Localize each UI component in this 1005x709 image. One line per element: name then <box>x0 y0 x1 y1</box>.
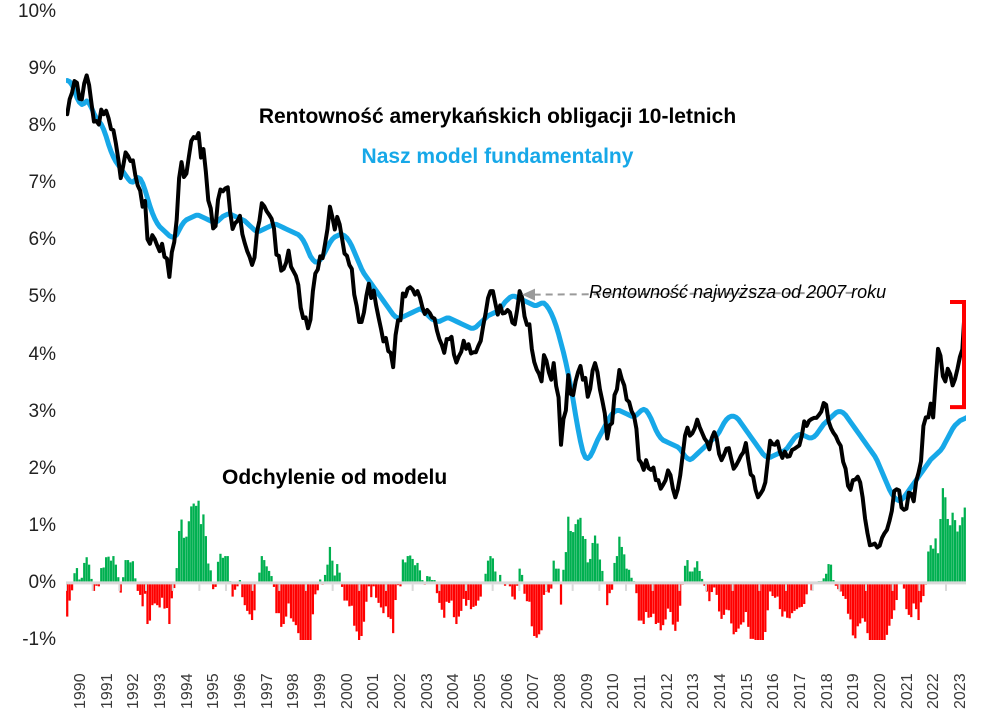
deviation-bar <box>280 583 282 627</box>
deviation-bar <box>339 573 341 583</box>
deviation-bar <box>664 583 666 620</box>
x-axis-tick: 2010 <box>605 673 623 709</box>
deviation-bar <box>329 547 331 583</box>
deviation-bar <box>326 565 328 583</box>
deviation-bar <box>643 583 645 624</box>
deviation-bar <box>635 583 637 593</box>
deviation-bar <box>441 583 443 610</box>
deviation-bar <box>842 583 844 596</box>
deviation-bar <box>881 583 883 640</box>
y-axis-tick: 0% <box>0 573 56 592</box>
deviation-bar <box>930 545 932 583</box>
deviation-bar <box>859 583 861 624</box>
deviation-bar <box>879 583 881 640</box>
x-axis-tick: 1992 <box>125 673 143 709</box>
deviation-bar <box>283 583 285 624</box>
deviation-bar <box>577 520 579 583</box>
deviation-bar <box>657 583 659 623</box>
deviation-bar <box>472 583 474 607</box>
deviation-bar <box>414 565 416 583</box>
deviation-bar <box>798 583 800 608</box>
chart-subtitle: Nasz model fundamentalny <box>0 145 1000 169</box>
deviation-bar <box>737 583 739 629</box>
y-axis-tick: 6% <box>0 230 56 249</box>
y-axis-tick: 2% <box>0 459 56 478</box>
x-axis-tick: 2009 <box>579 673 597 709</box>
deviation-bar <box>180 520 182 583</box>
deviation-bar <box>876 583 878 640</box>
deviation-bar <box>492 558 494 583</box>
deviation-bar <box>365 583 367 602</box>
deviation-bar <box>908 583 910 615</box>
deviation-bar <box>616 556 618 583</box>
deviation-bar <box>105 557 107 583</box>
deviation-bar <box>200 524 202 583</box>
deviation-bar <box>830 565 832 583</box>
deviation-bar <box>932 549 934 583</box>
deviation-bar <box>392 583 394 633</box>
deviation-bar <box>592 543 594 583</box>
deviation-bar <box>759 583 761 640</box>
deviation-bar <box>142 583 144 606</box>
deviation-bar <box>407 556 409 583</box>
deviation-bar <box>871 583 873 640</box>
deviation-bar <box>511 583 513 597</box>
deviation-bar <box>263 560 265 583</box>
x-axis-tick: 1993 <box>152 673 170 709</box>
x-axis-tick: 1998 <box>285 673 303 709</box>
deviation-bar <box>110 561 112 583</box>
deviation-bar <box>304 583 306 640</box>
deviation-bar <box>647 583 649 618</box>
deviation-bar <box>205 536 207 583</box>
deviation-bar <box>453 583 455 617</box>
deviation-bar <box>952 513 954 583</box>
deviation-bar <box>455 583 457 624</box>
x-axis-tick: 2004 <box>445 673 463 709</box>
x-axis-tick: 2012 <box>659 673 677 709</box>
deviation-bar <box>847 583 849 614</box>
deviation-bar <box>623 554 625 583</box>
deviation-bar <box>669 583 671 612</box>
deviation-bar <box>582 536 584 583</box>
deviation-bar <box>740 583 742 625</box>
deviation-bar <box>728 583 730 610</box>
deviation-bar <box>618 537 620 583</box>
deviation-bar <box>129 562 131 583</box>
deviation-bar <box>874 583 876 640</box>
deviation-bar <box>523 583 525 594</box>
deviation-bar <box>567 517 569 583</box>
deviation-bar <box>543 583 545 595</box>
deviation-bar <box>360 583 362 636</box>
deviation-bar <box>88 565 90 583</box>
deviation-bar <box>222 558 224 583</box>
deviation-bar <box>161 583 163 598</box>
deviation-bar <box>905 583 907 609</box>
y-axis-tick: 9% <box>0 59 56 78</box>
deviation-bar <box>83 563 85 583</box>
deviation-bar <box>387 583 389 617</box>
deviation-bar <box>803 583 805 604</box>
deviation-bar <box>227 556 229 583</box>
deviation-bar <box>409 556 411 583</box>
deviation-bar <box>844 583 846 599</box>
deviation-bar <box>463 583 465 599</box>
deviation-bar <box>852 583 854 636</box>
deviation-bar <box>149 583 151 621</box>
x-axis-tick: 1991 <box>99 673 117 709</box>
x-axis-tick: 2003 <box>419 673 437 709</box>
deviation-bar <box>168 583 170 624</box>
deviation-bar <box>193 504 195 583</box>
deviation-bar <box>640 583 642 621</box>
deviation-bar <box>540 583 542 630</box>
deviation-bar <box>346 583 348 601</box>
deviation-bar <box>533 583 535 636</box>
deviation-bar <box>613 563 615 583</box>
deviation-bar <box>487 561 489 583</box>
deviation-bar <box>356 583 358 632</box>
deviation-bar <box>584 539 586 583</box>
deviation-bar <box>674 583 676 631</box>
deviation-bar <box>436 583 438 593</box>
deviation-bar <box>806 583 808 594</box>
deviation-bar <box>934 538 936 583</box>
deviation-series-label: Odchylenie od modelu <box>222 466 447 490</box>
x-axis-tick: 2000 <box>339 673 357 709</box>
deviation-bar <box>183 538 185 583</box>
deviation-bar <box>689 571 691 582</box>
deviation-bar <box>195 506 197 583</box>
x-axis-tick: 1995 <box>205 673 223 709</box>
deviation-bar <box>246 583 248 611</box>
deviation-bar <box>312 583 314 614</box>
deviation-bar <box>686 560 688 583</box>
deviation-bar <box>287 583 289 604</box>
deviation-bar <box>132 561 134 583</box>
deviation-bar <box>599 560 601 583</box>
deviation-bar <box>827 564 829 583</box>
deviation-bar <box>348 583 350 606</box>
deviation-bar <box>767 583 769 610</box>
deviation-bar <box>964 508 966 583</box>
deviation-bar <box>791 583 793 613</box>
deviation-bar <box>178 531 180 583</box>
deviation-bar <box>888 583 890 626</box>
x-axis-tick: 1997 <box>259 673 277 709</box>
deviation-bar <box>779 583 781 609</box>
deviation-bar <box>531 583 533 626</box>
deviation-bar <box>188 521 190 583</box>
deviation-bar <box>947 519 949 583</box>
x-axis-tick: 2021 <box>899 673 917 709</box>
deviation-bar <box>219 554 221 583</box>
deviation-bar <box>735 583 737 632</box>
deviation-bar <box>477 583 479 601</box>
x-axis-tick: 2001 <box>365 673 383 709</box>
deviation-bar <box>124 560 126 583</box>
deviation-bar <box>869 583 871 640</box>
deviation-bar <box>696 561 698 583</box>
deviation-bar <box>536 583 538 638</box>
deviation-bar <box>351 583 353 606</box>
deviation-bar <box>538 583 540 634</box>
y-axis-tick: 3% <box>0 402 56 421</box>
x-axis-tick: 2019 <box>845 673 863 709</box>
deviation-bar <box>107 557 109 583</box>
deviation-bar <box>166 583 168 608</box>
deviation-bar <box>954 520 956 583</box>
deviation-bar <box>752 583 754 639</box>
deviation-bar <box>458 583 460 617</box>
deviation-bar <box>662 583 664 625</box>
y-axis-tick: 10% <box>0 2 56 21</box>
chart-title: Rentowność amerykańskich obligacji 10-le… <box>0 105 1000 129</box>
deviation-bar <box>574 524 576 583</box>
deviation-bar <box>290 583 292 618</box>
deviation-bar <box>801 583 803 607</box>
deviation-bar <box>606 583 608 605</box>
deviation-bar <box>718 583 720 612</box>
deviation-bar <box>467 583 469 600</box>
deviation-bar <box>394 583 396 600</box>
x-axis-tick: 2017 <box>792 673 810 709</box>
deviation-bar <box>275 583 277 613</box>
deviation-bar <box>886 583 888 635</box>
deviation-bar <box>448 583 450 603</box>
deviation-bar <box>628 570 630 583</box>
deviation-bar <box>295 583 297 625</box>
deviation-bar <box>672 583 674 625</box>
deviation-bar <box>638 583 640 621</box>
deviation-bar <box>572 532 574 583</box>
deviation-bar <box>526 583 528 601</box>
deviation-bar <box>402 560 404 583</box>
deviation-bar <box>776 583 778 597</box>
y-axis-tick: 4% <box>0 345 56 364</box>
deviation-bar <box>297 583 299 633</box>
x-axis-tick: 2005 <box>472 673 490 709</box>
x-axis-tick: 2015 <box>739 673 757 709</box>
deviation-bar <box>302 583 304 640</box>
deviation-bar <box>285 583 287 617</box>
deviation-bar <box>621 547 623 583</box>
deviation-bar <box>596 544 598 583</box>
chart-annotation: Rentowność najwyższa od 2007 roku <box>589 282 886 303</box>
deviation-bar <box>103 567 105 582</box>
deviation-bar <box>723 583 725 615</box>
deviation-bar <box>268 571 270 583</box>
deviation-bar <box>154 583 156 604</box>
deviation-bar <box>419 570 421 583</box>
deviation-bar <box>202 514 204 583</box>
deviation-bar <box>562 570 564 583</box>
deviation-bar <box>370 583 372 597</box>
deviation-bar <box>754 583 756 640</box>
deviation-bar <box>514 583 516 600</box>
deviation-bar <box>190 506 192 583</box>
deviation-bar <box>589 559 591 583</box>
deviation-bar <box>961 517 963 583</box>
deviation-bar <box>353 583 355 626</box>
deviation-bar <box>626 569 628 583</box>
x-axis-tick: 1994 <box>179 673 197 709</box>
deviation-bar <box>100 568 102 583</box>
deviation-bar <box>314 583 316 594</box>
deviation-bar <box>404 562 406 583</box>
deviation-bar <box>358 583 360 640</box>
y-axis-tick: -1% <box>0 630 56 649</box>
deviation-bar <box>896 583 898 600</box>
deviation-bar <box>939 519 941 583</box>
x-axis-tick: 1990 <box>72 673 90 709</box>
deviation-bar <box>176 568 178 583</box>
deviation-bar <box>560 583 562 605</box>
deviation-bar <box>115 565 117 583</box>
deviation-bar <box>959 525 961 583</box>
x-axis-tick: 2023 <box>952 673 970 709</box>
deviation-bar <box>390 583 392 619</box>
deviation-bar <box>470 583 472 609</box>
deviation-bar <box>446 583 448 602</box>
deviation-bar <box>745 583 747 612</box>
x-axis-tick: 1999 <box>312 673 330 709</box>
x-axis-tick: 2014 <box>712 673 730 709</box>
deviation-bar <box>694 567 696 582</box>
deviation-bar <box>475 583 477 606</box>
deviation-bar <box>609 583 611 593</box>
deviation-bar <box>660 583 662 630</box>
x-axis-tick: 2022 <box>925 673 943 709</box>
deviation-bar <box>956 532 958 583</box>
deviation-bar <box>309 583 311 640</box>
deviation-bar <box>927 552 929 583</box>
deviation-bar <box>253 583 255 610</box>
deviation-bar <box>793 583 795 611</box>
deviation-bar <box>249 583 251 614</box>
deviation-bar <box>762 583 764 640</box>
deviation-bar <box>343 583 345 601</box>
x-axis-tick: 2013 <box>685 673 703 709</box>
deviation-bar <box>796 583 798 609</box>
deviation-bar <box>241 583 243 597</box>
deviation-bar <box>300 583 302 640</box>
deviation-bar <box>185 537 187 583</box>
deviation-bar <box>857 583 859 626</box>
deviation-bar <box>699 571 701 583</box>
deviation-bar <box>594 536 596 583</box>
deviation-bar <box>774 583 776 598</box>
deviation-bar <box>382 583 384 613</box>
deviation-bar <box>949 525 951 583</box>
deviation-bar <box>667 583 669 609</box>
deviation-bar <box>764 583 766 632</box>
deviation-bar <box>944 497 946 583</box>
deviation-bar <box>336 564 338 583</box>
deviation-bar <box>519 569 521 583</box>
deviation-bar <box>553 561 555 583</box>
deviation-bar <box>922 583 924 596</box>
deviation-bar <box>849 583 851 620</box>
deviation-bar <box>159 583 161 608</box>
deviation-bar <box>112 556 114 583</box>
deviation-bar <box>601 571 603 583</box>
x-axis-tick: 2020 <box>872 673 890 709</box>
deviation-bar <box>655 583 657 624</box>
deviation-bar <box>197 501 199 583</box>
deviation-bar <box>565 552 567 583</box>
deviation-bar <box>937 553 939 583</box>
deviation-bar <box>156 583 158 605</box>
deviation-bar <box>570 531 572 583</box>
deviation-bar <box>480 583 482 597</box>
deviation-bar <box>910 583 912 617</box>
deviation-bar <box>587 562 589 583</box>
deviation-bar <box>76 568 78 583</box>
deviation-bar <box>691 571 693 582</box>
deviation-bar <box>915 583 917 609</box>
x-axis-tick: 2018 <box>819 673 837 709</box>
deviation-bar <box>363 583 365 622</box>
deviation-bar <box>684 566 686 583</box>
deviation-bar <box>375 583 377 598</box>
deviation-bar <box>913 583 915 604</box>
deviation-bar <box>261 556 263 583</box>
deviation-bar <box>862 583 864 618</box>
deviation-bar <box>781 583 783 617</box>
deviation-bar <box>579 518 581 583</box>
deviation-bar <box>489 556 491 583</box>
deviation-bar <box>747 583 749 627</box>
deviation-bar <box>307 583 309 640</box>
deviation-bar <box>331 561 333 583</box>
y-axis-tick: 5% <box>0 287 56 306</box>
deviation-bar <box>789 583 791 618</box>
deviation-bar <box>127 560 129 583</box>
deviation-bar <box>555 569 557 583</box>
deviation-bar <box>645 583 647 612</box>
deviation-bar <box>380 583 382 608</box>
y-axis-tick: 1% <box>0 516 56 535</box>
x-axis-tick: 2008 <box>552 673 570 709</box>
deviation-bar <box>232 583 234 597</box>
deviation-bar <box>460 583 462 611</box>
deviation-bar <box>750 583 752 639</box>
deviation-bar <box>942 488 944 583</box>
deviation-bar <box>217 562 219 583</box>
x-axis-tick: 2011 <box>632 675 650 709</box>
x-axis-tick: 1996 <box>232 673 250 709</box>
deviation-bar <box>151 583 153 605</box>
x-axis-tick: 2016 <box>765 673 783 709</box>
deviation-bar <box>210 570 212 583</box>
deviation-bar <box>757 583 759 640</box>
deviation-bar <box>139 583 141 595</box>
x-axis-tick: 2002 <box>392 673 410 709</box>
deviation-bar <box>883 583 885 640</box>
deviation-bar <box>443 583 445 618</box>
x-axis-tick: 2006 <box>499 673 517 709</box>
deviation-bar <box>528 583 530 602</box>
deviation-bar <box>854 583 856 638</box>
deviation-bar <box>716 583 718 595</box>
deviation-bar <box>266 566 268 583</box>
deviation-bar <box>772 583 774 596</box>
deviation-bar <box>244 583 246 605</box>
y-axis-tick: 7% <box>0 173 56 192</box>
deviation-bar <box>725 583 727 610</box>
